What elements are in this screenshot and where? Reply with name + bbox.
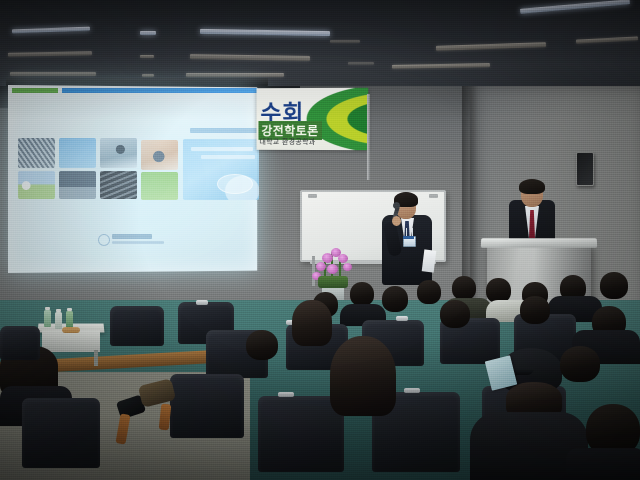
- attendee-head: [350, 282, 374, 306]
- slide-panel-subline: [201, 155, 255, 159]
- slide-url-text: [190, 128, 260, 133]
- seat-back: [0, 326, 40, 360]
- beverage-bottle: [66, 311, 73, 328]
- seat-hinge: [396, 316, 408, 321]
- banner-support-pole: [367, 94, 370, 180]
- slide-logo-wordmark: [112, 234, 152, 239]
- fluorescent-light-fixture: [142, 74, 154, 77]
- slide-tile-fan: [18, 171, 55, 199]
- whiteboard-clip: [429, 194, 438, 198]
- flower-pot: [318, 276, 348, 288]
- seat-back: [170, 374, 244, 438]
- seat-hinge: [278, 392, 294, 397]
- fluorescent-light-fixture: [10, 72, 96, 76]
- attendee-head: [600, 272, 628, 299]
- water-bottle: [44, 310, 51, 327]
- seat-hinge: [404, 388, 420, 393]
- bottle-cap: [67, 308, 72, 311]
- fluorescent-light-fixture: [190, 54, 310, 61]
- fluorescent-light-fixture: [330, 40, 360, 43]
- fluorescent-light-fixture: [186, 73, 284, 77]
- attendee-head: [560, 346, 600, 382]
- attendee-head: [382, 286, 408, 312]
- whiteboard-clip: [308, 194, 317, 198]
- attendee-head: [417, 280, 441, 304]
- slide-header-blue-bar: [62, 88, 258, 93]
- attendee-head: [246, 330, 278, 360]
- bottle-cap: [45, 307, 50, 310]
- seat: [110, 306, 164, 346]
- slide-footer-logo: [98, 233, 166, 245]
- attendee-head: [520, 296, 550, 324]
- slide-tile-crowd: [18, 138, 55, 168]
- slide-tile-green: [141, 172, 178, 200]
- lectern-top-surface: [481, 238, 597, 248]
- slide-tile-keys: [100, 171, 137, 199]
- seat-back: [110, 306, 164, 346]
- orchid-bloom: [338, 254, 348, 263]
- fluorescent-light-fixture: [436, 42, 546, 51]
- seat: [170, 374, 244, 438]
- orchid-bloom: [327, 264, 338, 274]
- seat: [22, 398, 100, 468]
- snack-plate: [62, 327, 80, 333]
- event-banner: 수회 강전학토론 대학교 환경공학과: [256, 88, 368, 150]
- conference-room-photo: Seminar presentation in an auditorium: [0, 0, 640, 480]
- name-badge-header: [403, 236, 414, 239]
- water-bottle: [55, 312, 62, 329]
- podium-speaker-hair: [519, 179, 545, 194]
- slide-panel-logo: [217, 174, 253, 194]
- whiteboard-leg: [312, 256, 315, 286]
- slide-tile-drill: [100, 138, 137, 168]
- attendee-head: [452, 276, 476, 300]
- side-table-leg: [94, 350, 98, 366]
- fluorescent-light-fixture: [140, 55, 154, 58]
- slide-header-green-bar: [12, 88, 58, 93]
- fluorescent-light-fixture: [520, 0, 630, 14]
- orchid-bloom: [343, 263, 352, 271]
- wall-mounted-speaker: [576, 152, 594, 186]
- banner-caption: 대학교 환경공학과: [259, 137, 315, 147]
- slide-tile-blue: [59, 138, 96, 168]
- fluorescent-light-fixture: [12, 27, 90, 34]
- slide-tile-car: [59, 171, 96, 199]
- slide-logo-mark: [98, 234, 110, 246]
- fluorescent-light-fixture: [392, 63, 490, 69]
- fluorescent-light-fixture: [348, 62, 374, 65]
- slide-logo-subtext: [112, 241, 164, 244]
- bottle-cap: [56, 309, 61, 312]
- fluorescent-light-fixture: [140, 31, 156, 35]
- fluorescent-light-fixture: [8, 51, 92, 56]
- microphone-head: [393, 202, 400, 209]
- attendee-long-hair: [292, 300, 332, 346]
- attendee-head: [440, 300, 470, 328]
- seat-hinge: [196, 300, 208, 305]
- speaker-hand: [392, 216, 401, 226]
- fluorescent-light-fixture: [576, 36, 638, 43]
- slide-panel-headline: [191, 147, 253, 151]
- fluorescent-light-fixture: [200, 29, 330, 36]
- attendee-long-hair: [330, 336, 396, 416]
- seat-back: [22, 398, 100, 468]
- attendee-shoulders: [566, 448, 640, 480]
- orchid-bloom: [316, 262, 326, 271]
- side-table-body: [42, 330, 100, 352]
- seat: [0, 326, 40, 360]
- slide-panel: [183, 139, 259, 200]
- slide-tile-hand: [141, 140, 178, 170]
